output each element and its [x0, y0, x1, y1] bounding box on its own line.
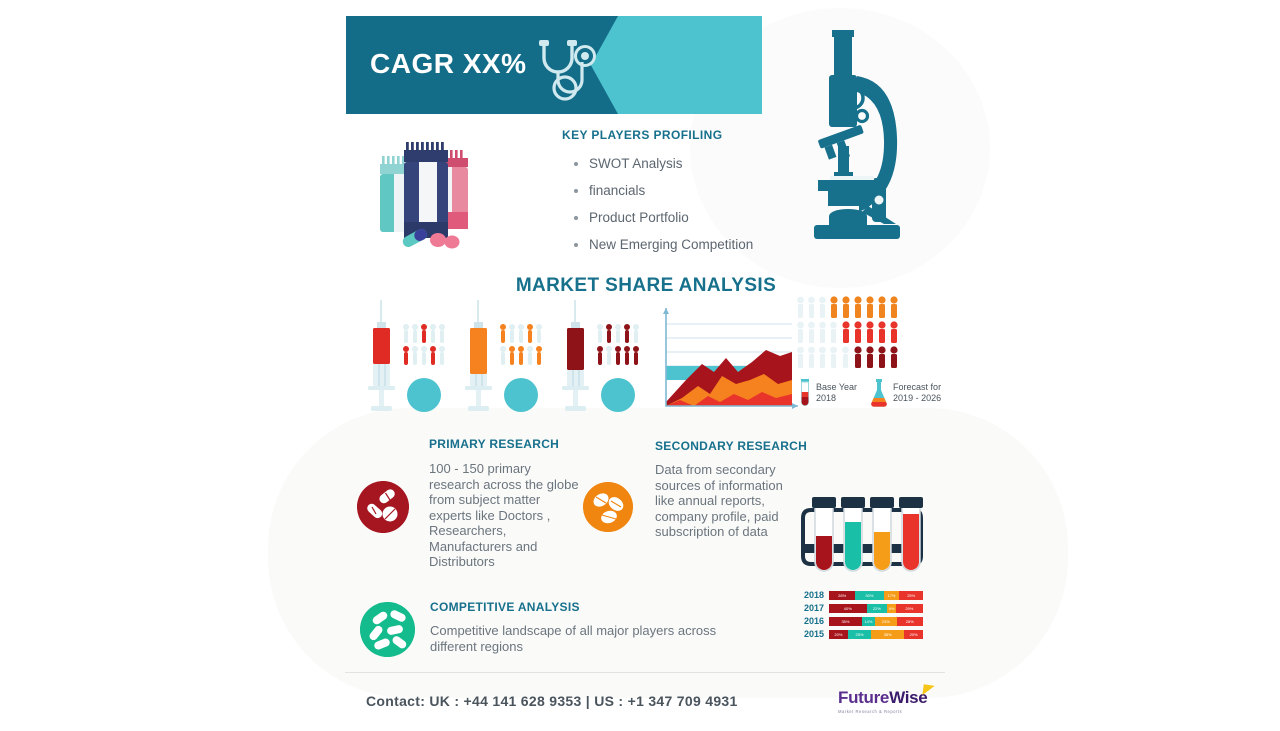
- bar-segment: 25%: [848, 630, 872, 639]
- logo-tagline: Market Research & Reports: [838, 709, 927, 714]
- stethoscope-icon: [532, 38, 610, 102]
- footer-divider: [345, 672, 945, 673]
- competitive-analysis-capsules-icon: [360, 602, 415, 657]
- secondary-research-body: Data from secondary sources of informati…: [655, 462, 805, 540]
- logo-text-wise: Wise: [889, 688, 927, 707]
- table-row: 2017 40% 22% 9% 29%: [800, 603, 923, 614]
- test-tube-4: [899, 497, 923, 571]
- bar-segment: 40%: [829, 604, 867, 613]
- list-item-label: New Emerging Competition: [589, 237, 753, 252]
- header-ribbon: CAGR XX%: [346, 16, 762, 114]
- test-tube-2: [841, 497, 865, 571]
- microscope-icon: [810, 28, 920, 253]
- bar-segment: 25%: [899, 591, 923, 600]
- table-row: 2015 20% 25% 35% 20%: [800, 629, 923, 640]
- pictogram-row-1: [797, 296, 898, 318]
- bar-segment: 28%: [897, 617, 923, 626]
- syringe-unit-2: [465, 300, 542, 412]
- market-share-title: MARKET SHARE ANALYSIS: [0, 275, 1280, 297]
- list-item-label: SWOT Analysis: [589, 156, 683, 171]
- market-share-bar-chart: 2018 28% 30% 17% 25% 2017 40% 22% 9% 29%…: [800, 590, 923, 642]
- pictogram-row-2: [797, 321, 898, 343]
- bar-year-label: 2018: [800, 590, 824, 601]
- bar-segment: 17%: [884, 591, 900, 600]
- table-row: 2018 28% 30% 17% 25%: [800, 590, 923, 601]
- bar-segment: 35%: [871, 630, 904, 639]
- bar-segment: 35%: [829, 617, 862, 626]
- bullet-icon: [574, 162, 578, 166]
- list-item-label: financials: [589, 183, 645, 198]
- bar-track: 20% 25% 35% 20%: [829, 630, 923, 639]
- pictogram-row-3: [797, 346, 898, 368]
- market-share-legend: Base Year 2018 Forecast for 2019 - 2026: [798, 378, 953, 408]
- legend-item-base-year: Base Year 2018: [798, 378, 857, 408]
- legend-item-forecast: Forecast for 2019 - 2026: [869, 378, 941, 408]
- test-tube-rack-icon: [797, 496, 927, 581]
- primary-research-title: PRIMARY RESEARCH: [429, 437, 559, 451]
- infographic-canvas: CAGR XX% KEY PLAYERS PROFILING SWOT Anal…: [0, 0, 1280, 731]
- syringe-unit-3: [562, 300, 639, 412]
- bar-track: 28% 30% 17% 25%: [829, 591, 923, 600]
- competitive-analysis-body: Competitive landscape of all major playe…: [430, 623, 720, 654]
- test-tube-icon: [798, 378, 812, 408]
- logo-wordmark: FutureWise: [838, 688, 927, 708]
- bar-segment: 20%: [829, 630, 848, 639]
- legend-forecast-text: Forecast for 2019 - 2026: [893, 382, 941, 404]
- competitive-analysis-title: COMPETITIVE ANALYSIS: [430, 600, 580, 614]
- bar-segment: 22%: [867, 604, 888, 613]
- flask-icon: [869, 378, 889, 408]
- table-row: 2016 35% 14% 23% 28%: [800, 616, 923, 627]
- bar-segment: 29%: [896, 604, 923, 613]
- secondary-research-pills-icon: [583, 482, 633, 532]
- people-pictogram: [796, 296, 916, 376]
- test-tube-3: [870, 497, 894, 571]
- test-tube-1: [812, 497, 836, 571]
- bar-year-label: 2017: [800, 603, 824, 614]
- area-chart: [652, 302, 802, 417]
- bar-segment: 23%: [875, 617, 897, 626]
- bar-track: 35% 14% 23% 28%: [829, 617, 923, 626]
- key-players-title: KEY PLAYERS PROFILING: [562, 128, 722, 142]
- bar-year-label: 2015: [800, 629, 824, 640]
- bar-segment: 30%: [855, 591, 883, 600]
- bar-segment: 9%: [887, 604, 895, 613]
- primary-research-pills-icon: [357, 481, 409, 533]
- list-item: SWOT Analysis: [562, 150, 822, 177]
- page-title: CAGR XX%: [370, 48, 526, 80]
- syringe-chart-group: [358, 300, 658, 418]
- secondary-research-title: SECONDARY RESEARCH: [655, 439, 807, 453]
- list-item: Product Portfolio: [562, 204, 822, 231]
- pill-bottles-icon: [372, 142, 492, 252]
- list-item: New Emerging Competition: [562, 231, 822, 258]
- list-item: financials: [562, 177, 822, 204]
- legend-base-year-text: Base Year 2018: [816, 382, 857, 404]
- primary-research-body: 100 - 150 primary research across the gl…: [429, 461, 579, 570]
- bar-year-label: 2016: [800, 616, 824, 627]
- logo-text-future: Future: [838, 688, 889, 707]
- bar-segment: 28%: [829, 591, 855, 600]
- bullet-icon: [574, 216, 578, 220]
- contact-line: Contact: UK : +44 141 628 9353 | US : +1…: [366, 693, 738, 709]
- bar-segment: 20%: [904, 630, 923, 639]
- bar-segment: 14%: [862, 617, 875, 626]
- key-players-list: SWOT Analysis financials Product Portfol…: [562, 150, 822, 258]
- bar-track: 40% 22% 9% 29%: [829, 604, 923, 613]
- list-item-label: Product Portfolio: [589, 210, 689, 225]
- bullet-icon: [574, 189, 578, 193]
- syringe-unit-1: [368, 300, 445, 412]
- bullet-icon: [574, 243, 578, 247]
- futurewise-logo: FutureWise Market Research & Reports: [838, 688, 927, 714]
- logo-flag-icon: [922, 684, 934, 696]
